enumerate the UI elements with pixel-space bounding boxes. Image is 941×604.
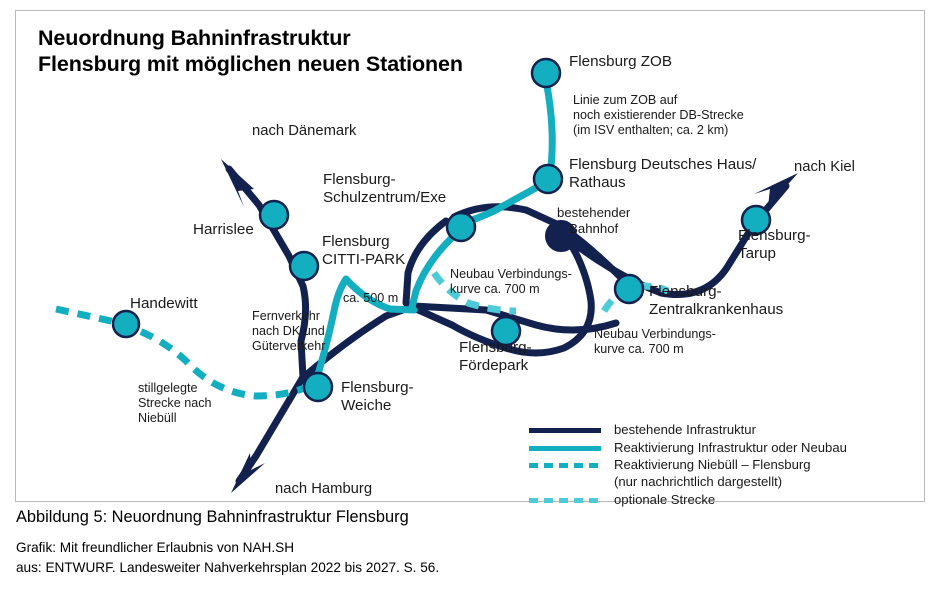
- legend-label-optional: optionale Strecke: [614, 492, 715, 509]
- station-label-tarup: Flensburg- Tarup: [738, 227, 811, 263]
- legend-label-existing: bestehende Infrastruktur: [614, 422, 756, 439]
- annotation-fernverkehr: Fernverkehr nach DK und Güterverkehr: [252, 309, 326, 354]
- station-label-weiche: Flensburg- Weiche: [341, 379, 414, 415]
- direction-label-kiel: nach Kiel: [794, 159, 855, 176]
- direction-label-daenemark: nach Dänemark: [252, 123, 356, 140]
- station-label-citti-park: Flensburg CITTI-PARK: [322, 233, 405, 269]
- line-deutsches-haus-schulzentrum: [464, 184, 543, 223]
- map-legend: bestehende Infrastruktur Reaktivierung I…: [529, 422, 919, 509]
- legend-item-reactivation: Reaktivierung Infrastruktur oder Neubau: [529, 440, 919, 457]
- station-label-harrislee: Harrislee: [193, 221, 254, 239]
- station-node-weiche[interactable]: [304, 373, 332, 401]
- figure-caption: Abbildung 5: Neuordnung Bahninfrastruktu…: [16, 508, 409, 527]
- legend-item-niebuell: Reaktivierung Niebüll – Flensburg (nur n…: [529, 457, 919, 490]
- legend-swatch-existing-line: [529, 422, 601, 437]
- station-node-citti-park[interactable]: [290, 252, 318, 280]
- legend-label-reactivation: Reaktivierung Infrastruktur oder Neubau: [614, 440, 847, 457]
- station-label-bestehender-bahnhof: bestehender Bahnhof: [557, 205, 630, 236]
- figure-page: Neuordnung Bahninfrastruktur Flensburg m…: [0, 0, 941, 604]
- line-schulzentrum-south: [406, 221, 446, 303]
- station-node-schulzentrum[interactable]: [447, 213, 475, 241]
- line-zob-deutsches-haus: [546, 81, 552, 175]
- annotation-stillgelegte-strecke: stillgelegte Strecke nach Niebüll: [138, 381, 212, 426]
- legend-item-optional: optionale Strecke: [529, 492, 919, 509]
- station-label-foerdepark: Flensburg- Fördepark: [459, 339, 532, 375]
- annotation-distance-500: ca. 500 m: [343, 291, 398, 306]
- station-label-zob: Flensburg ZOB: [569, 53, 672, 71]
- annotation-zob-line: Linie zum ZOB auf noch existierender DB-…: [573, 93, 744, 138]
- station-node-zob[interactable]: [532, 59, 560, 87]
- station-label-deutsches-haus: Flensburg Deutsches Haus/ Rathaus: [569, 156, 756, 192]
- station-label-handewitt: Handewitt: [130, 295, 198, 313]
- legend-swatch-niebuell-line: [529, 457, 601, 472]
- direction-label-hamburg: nach Hamburg: [275, 481, 372, 498]
- arrowhead-daenemark: [221, 159, 254, 207]
- figure-frame: Neuordnung Bahninfrastruktur Flensburg m…: [15, 10, 925, 502]
- station-label-schulzentrum: Flensburg- Schulzentrum/Exe: [323, 171, 446, 207]
- arrowhead-hamburg: [231, 453, 265, 493]
- legend-item-existing: bestehende Infrastruktur: [529, 422, 919, 439]
- figure-source: Grafik: Mit freundlicher Erlaubnis von N…: [16, 538, 439, 577]
- legend-label-niebuell: Reaktivierung Niebüll – Flensburg (nur n…: [614, 457, 811, 490]
- legend-swatch-optional-line: [529, 492, 601, 507]
- station-node-zentralkrankenhaus[interactable]: [615, 275, 643, 303]
- station-node-deutsches-haus[interactable]: [534, 165, 562, 193]
- annotation-neubau-kurve-west: Neubau Verbindungs- kurve ca. 700 m: [450, 267, 572, 297]
- legend-swatch-reactivation-line: [529, 440, 601, 455]
- station-node-handewitt[interactable]: [113, 311, 139, 337]
- annotation-neubau-kurve-east: Neubau Verbindungs- kurve ca. 700 m: [594, 327, 716, 357]
- station-label-zentralkrankenhaus: Flensburg- Zentralkrankenhaus: [649, 283, 783, 319]
- station-node-harrislee[interactable]: [260, 201, 288, 229]
